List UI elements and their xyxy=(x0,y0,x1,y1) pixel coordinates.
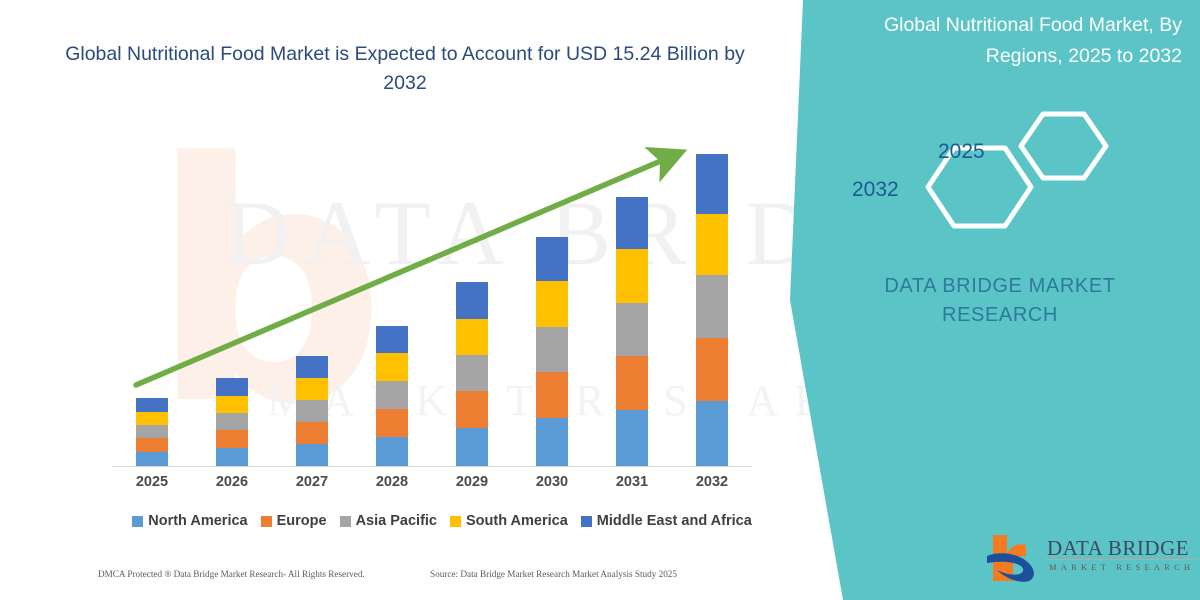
bar-segment[interactable] xyxy=(536,237,568,281)
bar-segment[interactable] xyxy=(136,425,168,438)
bar-segment[interactable] xyxy=(536,418,568,466)
bar-group[interactable] xyxy=(354,326,430,466)
stacked-bar[interactable] xyxy=(696,154,728,466)
legend-item[interactable]: Middle East and Africa xyxy=(581,513,752,529)
chart-panel: Global Nutritional Food Market is Expect… xyxy=(0,0,810,600)
bar-segment[interactable] xyxy=(456,319,488,355)
stacked-bar[interactable] xyxy=(296,356,328,466)
legend-label: Middle East and Africa xyxy=(597,513,752,529)
bar-segment[interactable] xyxy=(136,412,168,425)
footer-copyright: DMCA Protected ® Data Bridge Market Rese… xyxy=(98,569,365,579)
bar-segment[interactable] xyxy=(296,444,328,466)
bar-segment[interactable] xyxy=(216,413,248,430)
chart-legend: North AmericaEuropeAsia PacificSouth Ame… xyxy=(112,513,772,529)
legend-item[interactable]: Europe xyxy=(261,513,327,529)
x-axis-label: 2027 xyxy=(274,474,350,490)
bar-segment[interactable] xyxy=(376,409,408,437)
legend-label: North America xyxy=(148,513,247,529)
bar-segment[interactable] xyxy=(216,396,248,413)
bar-segment[interactable] xyxy=(696,275,728,337)
hexagon-outline-icons xyxy=(918,108,1128,233)
legend-swatch-icon xyxy=(581,516,592,527)
bar-group[interactable] xyxy=(274,356,350,466)
stacked-bar[interactable] xyxy=(536,237,568,466)
bar-group[interactable] xyxy=(194,378,270,466)
stacked-bar[interactable] xyxy=(216,378,248,466)
bar-group[interactable] xyxy=(514,237,590,466)
bar-segment[interactable] xyxy=(696,154,728,214)
bar-segment[interactable] xyxy=(616,249,648,302)
brand-panel-content: Global Nutritional Food Market, By Regio… xyxy=(830,0,1200,600)
brand-name-text: DATA BRIDGE MARKET RESEARCH xyxy=(830,272,1170,330)
footer-source: Source: Data Bridge Market Research Mark… xyxy=(430,569,677,579)
bar-segment[interactable] xyxy=(136,438,168,452)
stacked-bar-plot xyxy=(112,145,752,466)
legend-item[interactable]: North America xyxy=(132,513,247,529)
chart-title: Global Nutritional Food Market is Expect… xyxy=(60,40,750,98)
bar-segment[interactable] xyxy=(536,372,568,418)
data-bridge-logo: DATA BRIDGE MARKET RESEARCH xyxy=(985,530,1200,588)
bar-segment[interactable] xyxy=(616,410,648,466)
bar-segment[interactable] xyxy=(296,356,328,378)
hexagon-badges xyxy=(918,108,1128,233)
bar-segment[interactable] xyxy=(296,378,328,400)
bar-segment[interactable] xyxy=(616,197,648,249)
x-axis-label: 2032 xyxy=(674,474,750,490)
bar-segment[interactable] xyxy=(616,303,648,356)
bar-segment[interactable] xyxy=(216,448,248,466)
bar-segment[interactable] xyxy=(296,400,328,422)
x-axis-label: 2030 xyxy=(514,474,590,490)
brand-panel-heading: Global Nutritional Food Market, By Regio… xyxy=(830,10,1182,72)
logo-title: DATA BRIDGE xyxy=(1047,536,1189,561)
bar-segment[interactable] xyxy=(456,391,488,428)
bar-group[interactable] xyxy=(674,154,750,466)
bar-segment[interactable] xyxy=(456,355,488,391)
legend-label: South America xyxy=(466,513,568,529)
bar-segment[interactable] xyxy=(456,282,488,318)
bar-segment[interactable] xyxy=(216,430,248,448)
stacked-bar[interactable] xyxy=(616,197,648,466)
hexagon-2032-label: 2032 xyxy=(852,178,899,202)
x-axis-label: 2029 xyxy=(434,474,510,490)
legend-label: Europe xyxy=(277,513,327,529)
bar-group[interactable] xyxy=(434,282,510,466)
bar-segment[interactable] xyxy=(696,214,728,275)
logo-divider xyxy=(1047,559,1197,560)
x-axis-label: 2026 xyxy=(194,474,270,490)
logo-subtitle: MARKET RESEARCH xyxy=(1049,562,1194,572)
stacked-bar[interactable] xyxy=(136,398,168,466)
bar-segment[interactable] xyxy=(696,401,728,466)
bar-segment[interactable] xyxy=(136,452,168,466)
x-axis-label: 2028 xyxy=(354,474,430,490)
logo-b-mark-icon xyxy=(985,532,1045,584)
bar-segment[interactable] xyxy=(456,428,488,466)
bar-segment[interactable] xyxy=(616,356,648,410)
bar-segment[interactable] xyxy=(696,338,728,401)
infographic-canvas: b DATA BRIDGE MARKET RESEARCH Global Nut… xyxy=(0,0,1200,600)
bar-group[interactable] xyxy=(114,398,190,466)
bar-segment[interactable] xyxy=(536,327,568,372)
bar-group[interactable] xyxy=(594,197,670,466)
bar-segment[interactable] xyxy=(376,353,408,381)
legend-swatch-icon xyxy=(340,516,351,527)
stacked-bar[interactable] xyxy=(376,326,408,466)
x-axis-label: 2025 xyxy=(114,474,190,490)
bar-segment[interactable] xyxy=(376,326,408,353)
legend-swatch-icon xyxy=(450,516,461,527)
hexagon-2025-label: 2025 xyxy=(938,140,985,164)
bar-segment[interactable] xyxy=(536,281,568,326)
legend-label: Asia Pacific xyxy=(356,513,437,529)
legend-item[interactable]: Asia Pacific xyxy=(340,513,437,529)
legend-swatch-icon xyxy=(261,516,272,527)
stacked-bar[interactable] xyxy=(456,282,488,466)
bar-segment[interactable] xyxy=(376,381,408,409)
hexagon-2025-shape xyxy=(1021,114,1106,178)
x-axis-label: 2031 xyxy=(594,474,670,490)
x-axis-labels: 20252026202720282029203020312032 xyxy=(112,474,752,496)
x-axis-line xyxy=(112,466,752,467)
legend-swatch-icon xyxy=(132,516,143,527)
bar-segment[interactable] xyxy=(296,422,328,444)
bar-segment[interactable] xyxy=(376,437,408,466)
bar-segment[interactable] xyxy=(136,398,168,412)
legend-item[interactable]: South America xyxy=(450,513,568,529)
bar-segment[interactable] xyxy=(216,378,248,396)
